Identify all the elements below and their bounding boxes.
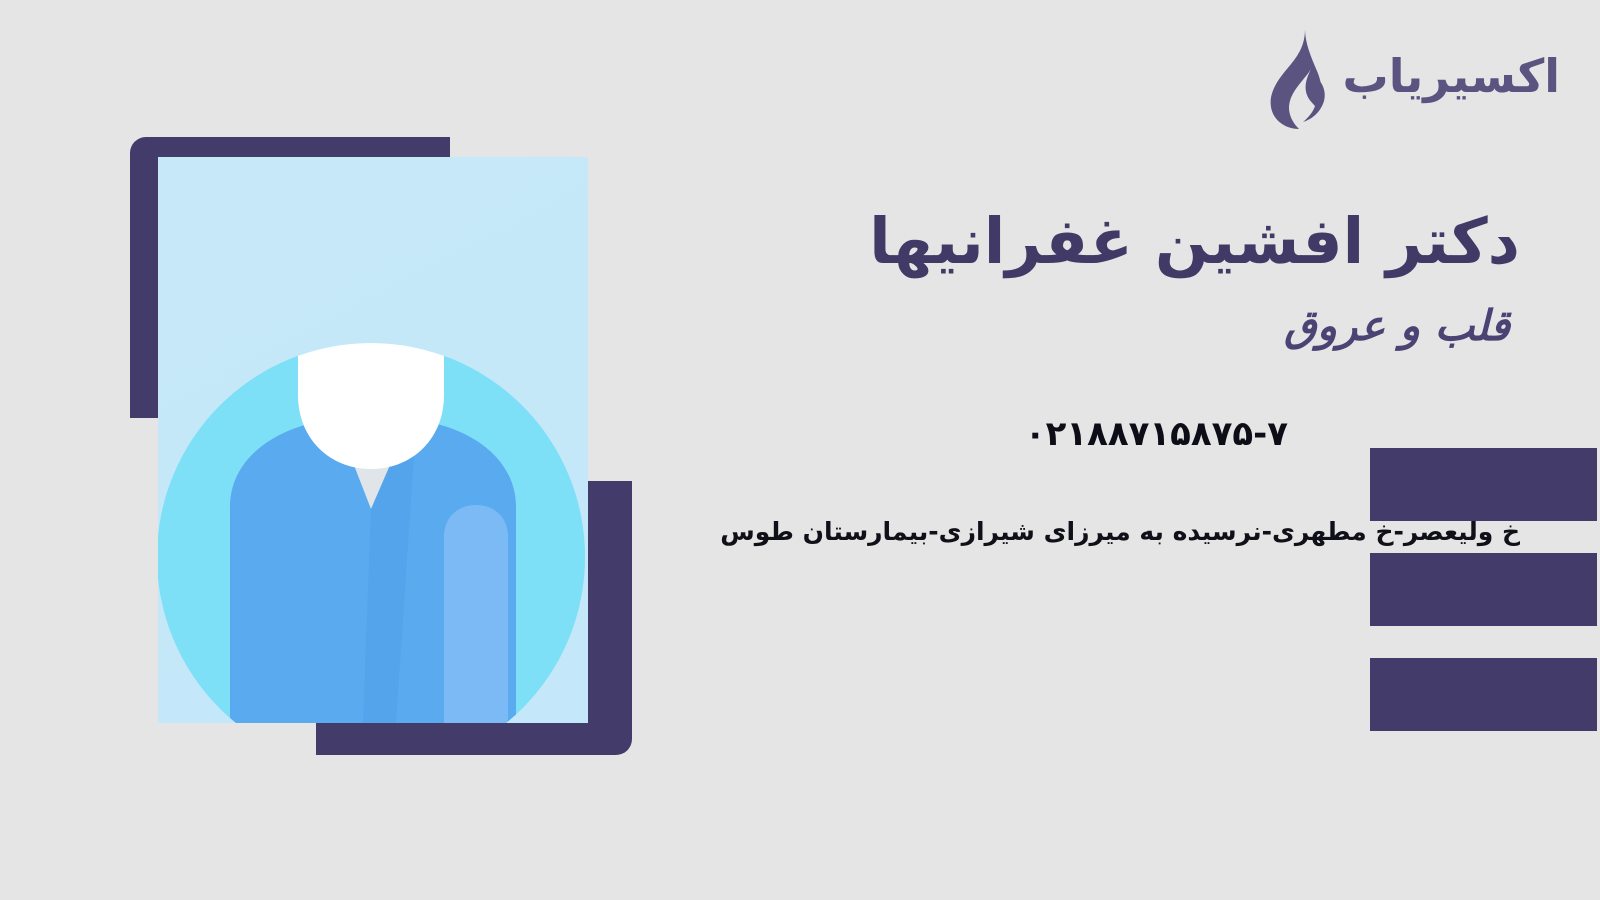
brand-logo[interactable]: اکسیریاب: [1261, 24, 1561, 134]
brand-wordmark: اکسیریاب: [1343, 53, 1561, 105]
decorative-bar-2: [1370, 553, 1597, 626]
doctor-avatar-illustration: [158, 157, 588, 723]
doctor-name: دکتر افشین غفرانیها: [640, 205, 1520, 279]
flame-drop-icon: [1261, 27, 1333, 131]
business-card-canvas: اکسیریاب: [0, 0, 1600, 900]
doctor-photo-card: [158, 157, 588, 723]
decorative-bar-3: [1370, 658, 1597, 731]
doctor-specialty: قلب و عروق: [640, 301, 1520, 351]
decorative-bar-1: [1370, 448, 1597, 521]
doctor-illustration-block: [130, 137, 632, 755]
